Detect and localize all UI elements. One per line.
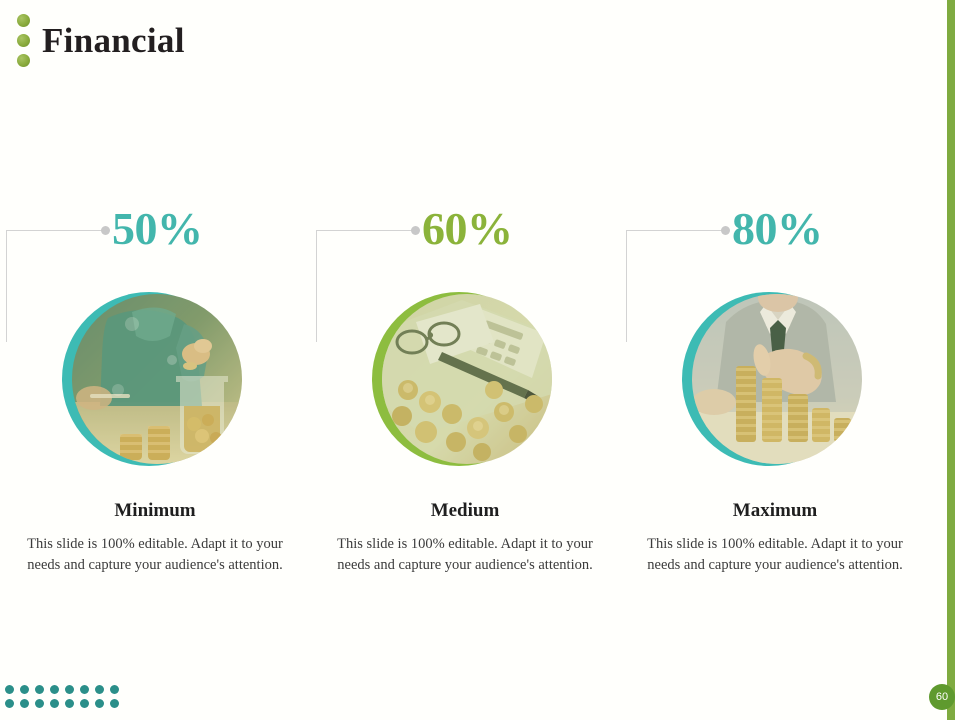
percent-value-maximum: 80% (732, 206, 823, 252)
caption-body-medium: This slide is 100% editable. Adapt it to… (330, 534, 600, 576)
grid-dot-icon (65, 699, 74, 708)
title-bullet-dots (0, 14, 38, 67)
percent-value-medium: 60% (422, 206, 513, 252)
caption-heading-minimum: Minimum (0, 500, 310, 522)
leader-line-vertical (6, 230, 7, 342)
photo-minimum (62, 292, 242, 472)
caption-heading-maximum: Maximum (620, 500, 930, 522)
leader-dot-icon (101, 226, 110, 235)
grid-dot-icon (95, 699, 104, 708)
leader-line-vertical (316, 230, 317, 342)
grid-dot-icon (110, 685, 119, 694)
grid-dot-icon (20, 699, 29, 708)
title-dot-icon (17, 54, 30, 67)
caption-body-minimum: This slide is 100% editable. Adapt it to… (20, 534, 290, 576)
coins-in-jar-photo (72, 294, 242, 464)
right-accent-bar (947, 0, 955, 720)
leader-dot-icon (411, 226, 420, 235)
coins-glasses-calculator-photo (382, 294, 552, 464)
photo-maximum (682, 292, 862, 472)
leader-line-horizontal (626, 230, 725, 231)
grid-dot-icon (95, 685, 104, 694)
title-dot-icon (17, 34, 30, 47)
grid-dot-icon (5, 685, 14, 694)
grid-dot-icon (80, 699, 89, 708)
caption-heading-medium: Medium (310, 500, 620, 522)
grid-dot-icon (50, 699, 59, 708)
leader-line-horizontal (6, 230, 105, 231)
decorative-dot-grid (5, 685, 119, 708)
grid-dot-icon (110, 699, 119, 708)
title-block: Financial (0, 14, 185, 67)
grid-dot-icon (65, 685, 74, 694)
dot-grid-row (5, 685, 119, 694)
page-title: Financial (42, 23, 185, 58)
leader-line-vertical (626, 230, 627, 342)
grid-dot-icon (80, 685, 89, 694)
grid-dot-icon (35, 699, 44, 708)
photo-medium (372, 292, 552, 472)
grid-dot-icon (20, 685, 29, 694)
businessman-coin-stacks-photo (692, 294, 862, 464)
caption-body-maximum: This slide is 100% editable. Adapt it to… (640, 534, 910, 576)
page-number-badge: 60 (929, 684, 955, 710)
title-dot-icon (17, 14, 30, 27)
leader-dot-icon (721, 226, 730, 235)
percent-value-minimum: 50% (112, 206, 203, 252)
dot-grid-row (5, 699, 119, 708)
grid-dot-icon (35, 685, 44, 694)
grid-dot-icon (5, 699, 14, 708)
grid-dot-icon (50, 685, 59, 694)
leader-line-horizontal (316, 230, 415, 231)
